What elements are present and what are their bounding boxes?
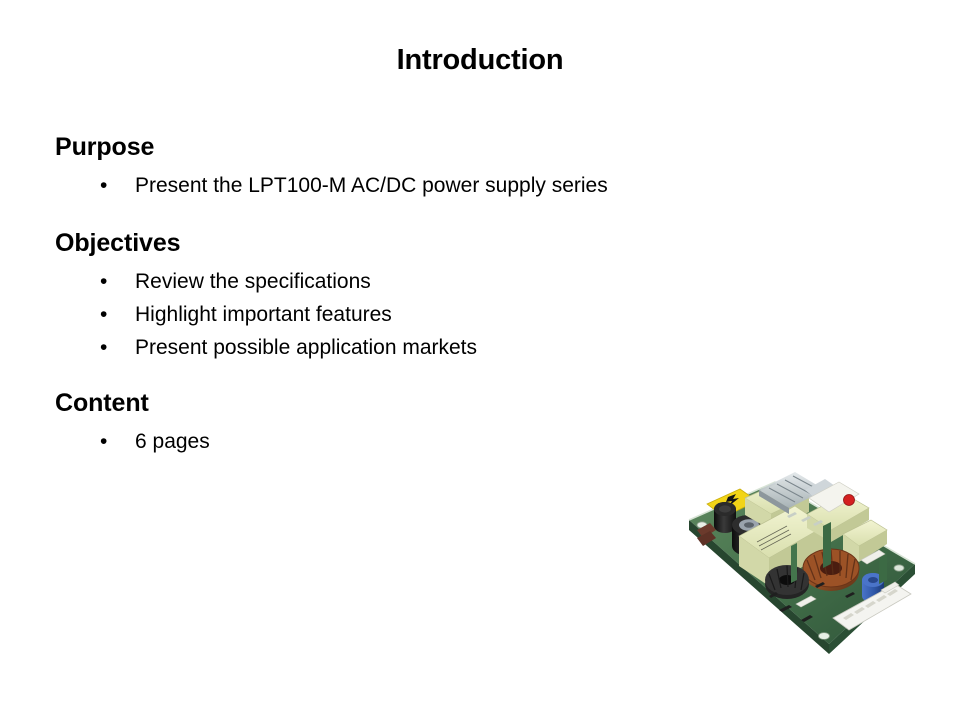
section-content: Content • 6 pages: [55, 388, 695, 458]
section-purpose: Purpose • Present the LPT100-M AC/DC pow…: [55, 132, 695, 202]
section-heading-purpose: Purpose: [55, 132, 695, 163]
common-mode-choke: [765, 565, 809, 599]
bullet-list-purpose: • Present the LPT100-M AC/DC power suppl…: [55, 169, 695, 202]
bullet-list-objectives: • Review the specifications • Highlight …: [55, 265, 695, 364]
bullet-list-content: • 6 pages: [55, 425, 695, 458]
list-item: • Highlight important features: [55, 298, 695, 331]
list-item-label: Review the specifications: [135, 270, 371, 293]
slide-introduction: Introduction Purpose • Present the LPT10…: [0, 0, 960, 720]
product-photo: [683, 468, 923, 658]
bullet-dot-icon: •: [100, 425, 107, 458]
list-item: • Present possible application markets: [55, 331, 695, 364]
bullet-dot-icon: •: [100, 169, 107, 202]
spacer-after-objectives: [55, 364, 695, 388]
spacer-after-purpose: [55, 202, 695, 228]
list-item: • 6 pages: [55, 425, 695, 458]
section-heading-objectives: Objectives: [55, 228, 695, 259]
list-item: • Review the specifications: [55, 265, 695, 298]
bullet-dot-icon: •: [100, 298, 107, 331]
slide-body: Purpose • Present the LPT100-M AC/DC pow…: [55, 132, 695, 458]
section-objectives: Objectives • Review the specifications •…: [55, 228, 695, 364]
power-supply-board-illustration: [683, 468, 923, 658]
list-item-label: Present the LPT100-M AC/DC power supply …: [135, 174, 608, 197]
list-item-label: Present possible application markets: [135, 336, 477, 359]
page-title: Introduction: [0, 44, 960, 77]
bullet-dot-icon: •: [100, 265, 107, 298]
list-item-label: Highlight important features: [135, 303, 392, 326]
bullet-dot-icon: •: [100, 331, 107, 364]
section-heading-content: Content: [55, 388, 695, 419]
list-item-label: 6 pages: [135, 430, 210, 453]
list-item: • Present the LPT100-M AC/DC power suppl…: [55, 169, 695, 202]
